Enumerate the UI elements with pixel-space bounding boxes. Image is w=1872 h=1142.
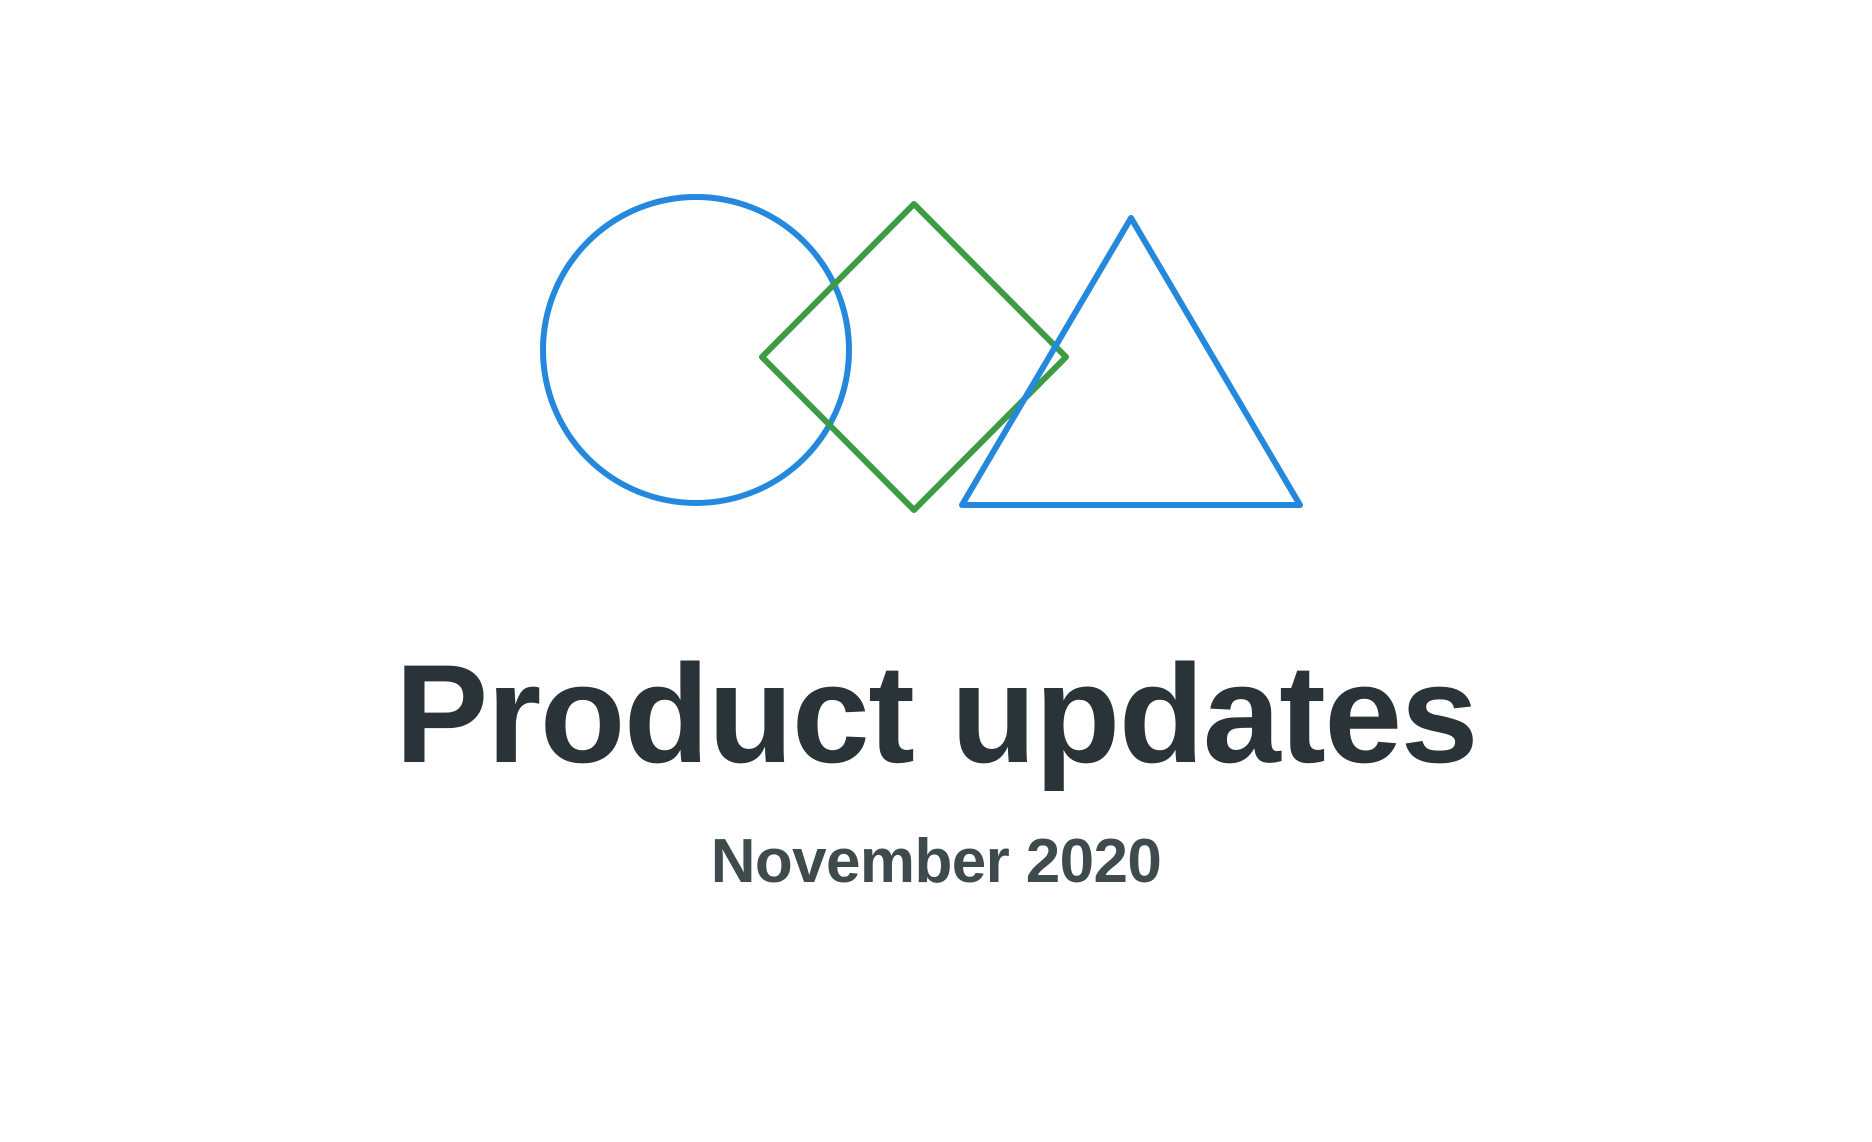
- page-title: Product updates: [0, 640, 1872, 788]
- page-subtitle: November 2020: [0, 788, 1872, 896]
- logo-svg: [520, 170, 1320, 530]
- geometric-shapes-logo: [520, 170, 1320, 530]
- circle-outline-icon: [543, 197, 849, 503]
- triangle-outline-icon: [962, 218, 1300, 505]
- heading-group: Product updates November 2020: [0, 640, 1872, 897]
- product-updates-title-slide: Product updates November 2020: [0, 0, 1872, 1142]
- diamond-outline-icon: [762, 204, 1066, 510]
